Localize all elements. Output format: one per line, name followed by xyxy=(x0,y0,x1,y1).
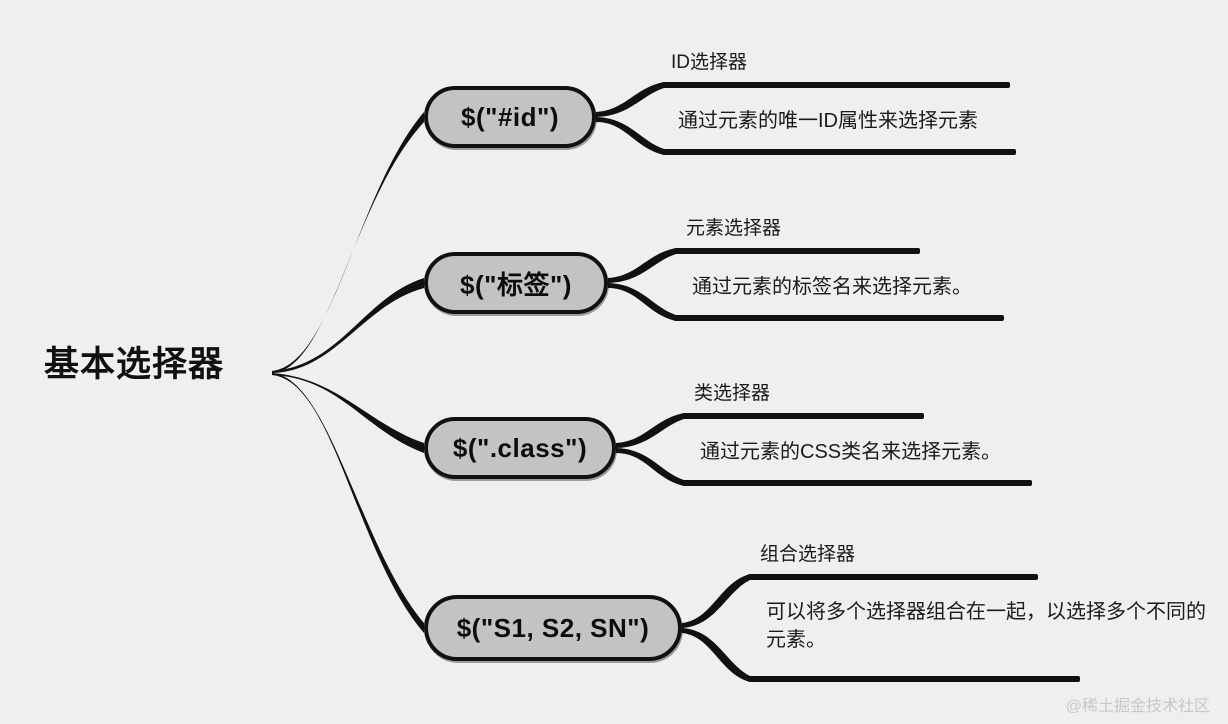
leaf-desc-class-selector: 通过元素的CSS类名来选择元素。 xyxy=(700,438,1120,466)
leaf-label-element-selector: 元素选择器 xyxy=(686,216,781,242)
leaf-desc-id-selector: 通过元素的唯一ID属性来选择元素 xyxy=(678,107,1078,135)
node-pill-id-selector[interactable]: $("#id") xyxy=(424,86,596,148)
node-pill-element-selector[interactable]: $("标签") xyxy=(424,252,608,314)
node-pill-label: $("标签") xyxy=(460,265,572,302)
leaf-label-group-selector: 组合选择器 xyxy=(760,542,855,568)
node-pill-label: $(".class") xyxy=(453,433,587,464)
watermark: @稀土掘金技术社区 xyxy=(1066,692,1210,716)
mindmap-canvas: 基本选择器 $("#id") ID选择器 通过元素的唯一ID属性来选择元素 $(… xyxy=(0,0,1228,724)
node-pill-class-selector[interactable]: $(".class") xyxy=(424,417,616,479)
leaf-label-class-selector: 类选择器 xyxy=(694,381,770,407)
node-pill-label: $("#id") xyxy=(461,102,559,133)
root-node-label: 基本选择器 xyxy=(14,346,254,385)
leaf-desc-element-selector: 通过元素的标签名来选择元素。 xyxy=(692,273,1092,301)
node-pill-label: $("S1, S2, SN") xyxy=(457,613,650,644)
leaf-label-id-selector: ID选择器 xyxy=(671,50,747,76)
node-pill-group-selector[interactable]: $("S1, S2, SN") xyxy=(424,595,682,661)
leaf-desc-group-selector: 可以将多个选择器组合在一起，以选择多个不同的元素。 xyxy=(766,598,1218,654)
